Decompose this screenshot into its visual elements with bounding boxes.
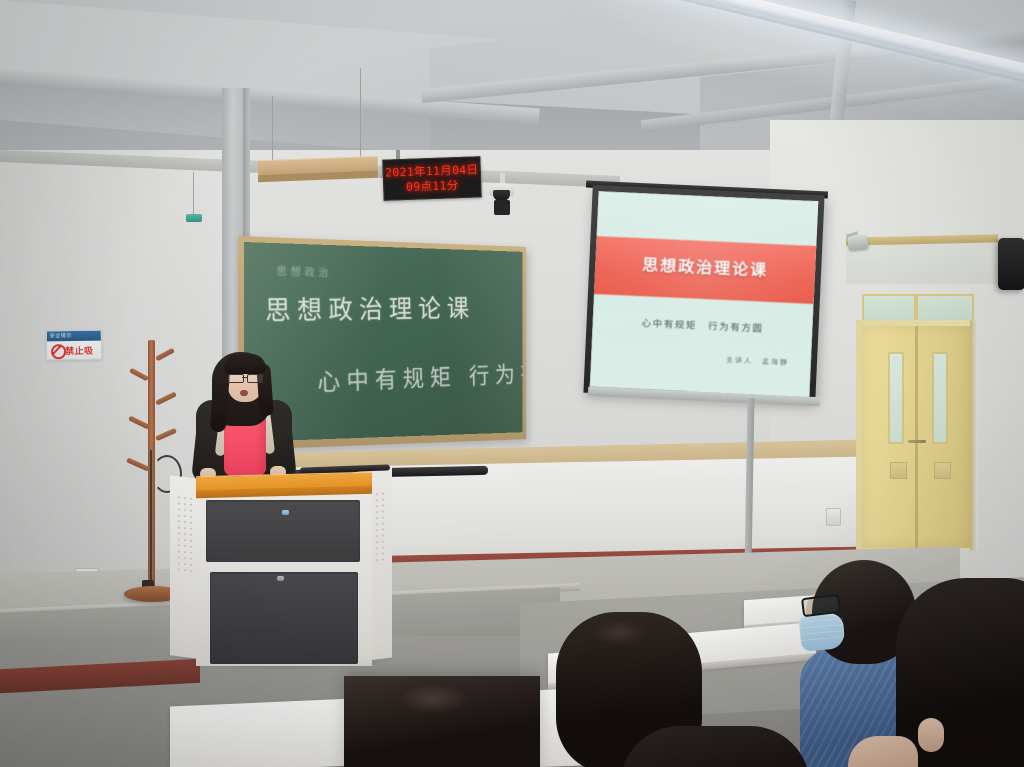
no-smoking-text: 禁止吸烟	[65, 344, 101, 361]
teacher-mouth	[240, 390, 248, 396]
wall-outlet	[826, 508, 841, 526]
led-time-text: 09点11分	[384, 178, 480, 193]
student-foreground-right	[896, 578, 1024, 767]
hanging-wire	[272, 96, 273, 166]
door-center-split	[915, 326, 918, 548]
screen-glare	[590, 191, 819, 397]
door-lower-panel	[890, 462, 907, 479]
green-hanging-item	[186, 214, 202, 222]
hanging-wire	[360, 68, 361, 160]
classroom-photo-scene: 2021年11月04日 09点11分 安全提示 禁止吸烟 思想政治 思想政治理论…	[0, 0, 1024, 767]
teacher-glasses	[228, 374, 262, 381]
door-glass-panel	[888, 352, 904, 444]
camera-body	[494, 200, 510, 215]
door-handle[interactable]	[908, 440, 926, 443]
sign-header-bar: 安全提示	[47, 331, 101, 342]
podium-latch	[277, 576, 284, 581]
led-date-time-display: 2021年11月04日 09点11分	[382, 156, 481, 200]
chalk-title-line: 思想政治理论课	[265, 288, 475, 327]
student-ear	[918, 718, 944, 752]
door-lower-panel	[934, 462, 951, 479]
blackboard-sheen	[418, 248, 523, 436]
face-mask-folds	[799, 618, 845, 646]
podium-lower-panel	[210, 572, 358, 664]
sign-header-text: 安全提示	[50, 332, 72, 339]
chalk-faint-text: 思想政治	[276, 263, 332, 280]
door-glass-panel	[932, 352, 948, 444]
hair-highlight	[398, 684, 468, 714]
door-frame-edge	[970, 320, 978, 550]
teacher-hair-front	[224, 354, 266, 374]
hanging-cord	[193, 172, 194, 216]
led-date-text: 2021年11月04日	[384, 163, 480, 178]
no-smoking-sign: 安全提示 禁止吸烟	[46, 330, 102, 361]
hair-highlight	[592, 620, 648, 646]
glasses-lens-right	[247, 374, 263, 383]
glasses-lens-left	[228, 374, 244, 383]
podium-indicator-light	[282, 510, 289, 515]
corner-speaker	[998, 238, 1024, 290]
wall-speaker	[847, 235, 868, 251]
